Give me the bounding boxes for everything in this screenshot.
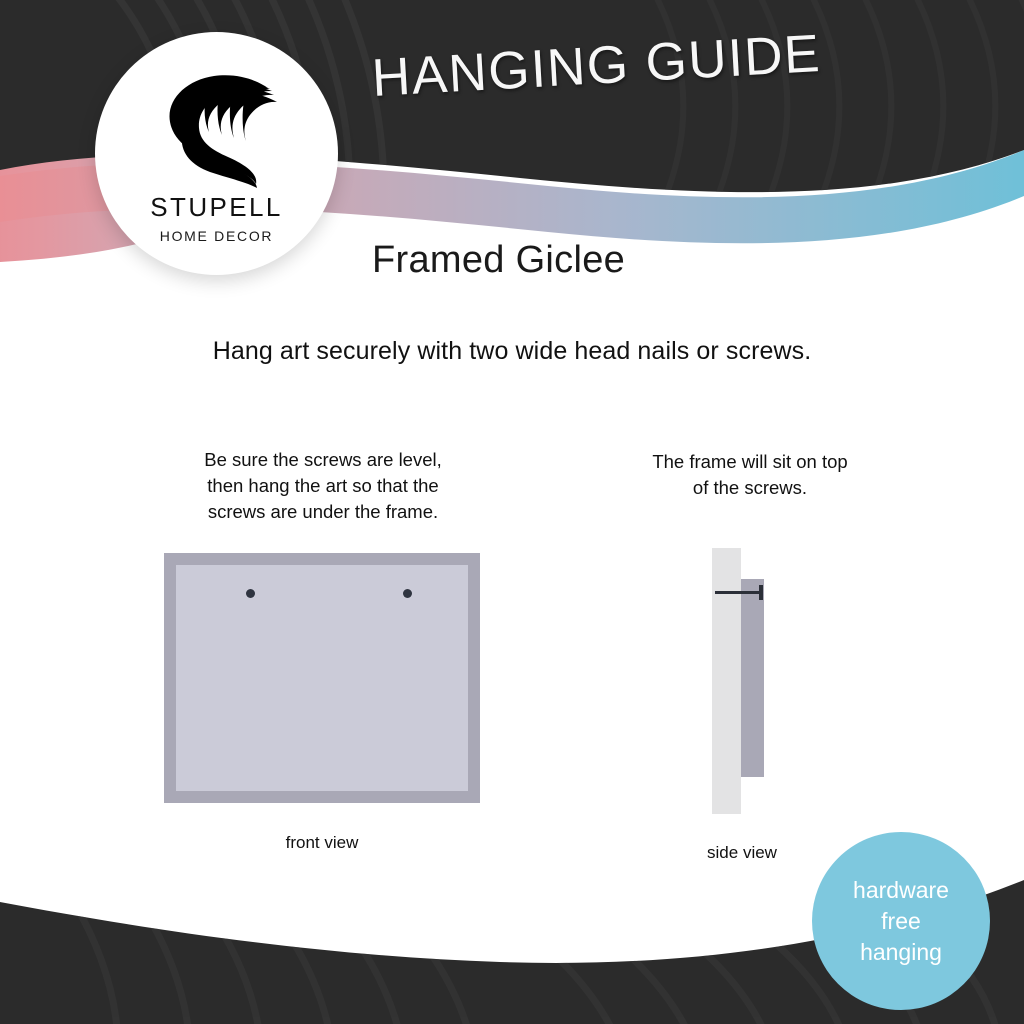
badge-line: free (881, 906, 921, 937)
badge-line: hardware (853, 875, 949, 906)
brand-subtitle: HOME DECOR (160, 229, 273, 243)
stupell-swirl-s-logo-icon (152, 58, 282, 190)
brand-name: STUPELL (150, 194, 282, 220)
front-view-mat (176, 565, 468, 791)
side-view-label: side view (660, 843, 824, 863)
caption-line: screws are under the frame. (152, 499, 494, 525)
page-title: HANGING GUIDE (370, 23, 822, 109)
caption-line: of the screws. (595, 475, 905, 501)
product-name: Framed Giclee (372, 239, 625, 282)
screw-dot-left (246, 589, 255, 598)
nail-head-icon (759, 585, 763, 600)
brand-logo-badge: STUPELL HOME DECOR (95, 32, 338, 275)
side-view-caption: The frame will sit on top of the screws. (595, 449, 905, 501)
front-view-caption: Be sure the screws are level, then hang … (152, 447, 494, 525)
badge-line: hanging (860, 937, 942, 968)
side-view-wall (712, 548, 741, 814)
caption-line: then hang the art so that the (152, 473, 494, 499)
hanging-guide-page: STUPELL HOME DECOR HANGING GUIDE Framed … (0, 0, 1024, 1024)
caption-line: Be sure the screws are level, (152, 447, 494, 473)
screw-dot-right (403, 589, 412, 598)
nail-shaft-icon (715, 591, 763, 594)
front-view-frame-diagram (164, 553, 480, 803)
side-view-frame-diagram (700, 548, 784, 814)
caption-line: The frame will sit on top (595, 449, 905, 475)
hardware-free-hanging-badge: hardware free hanging (812, 832, 990, 1010)
side-view-frame (741, 579, 764, 777)
tagline: Hang art securely with two wide head nai… (0, 337, 1024, 366)
front-view-label: front view (164, 833, 480, 853)
